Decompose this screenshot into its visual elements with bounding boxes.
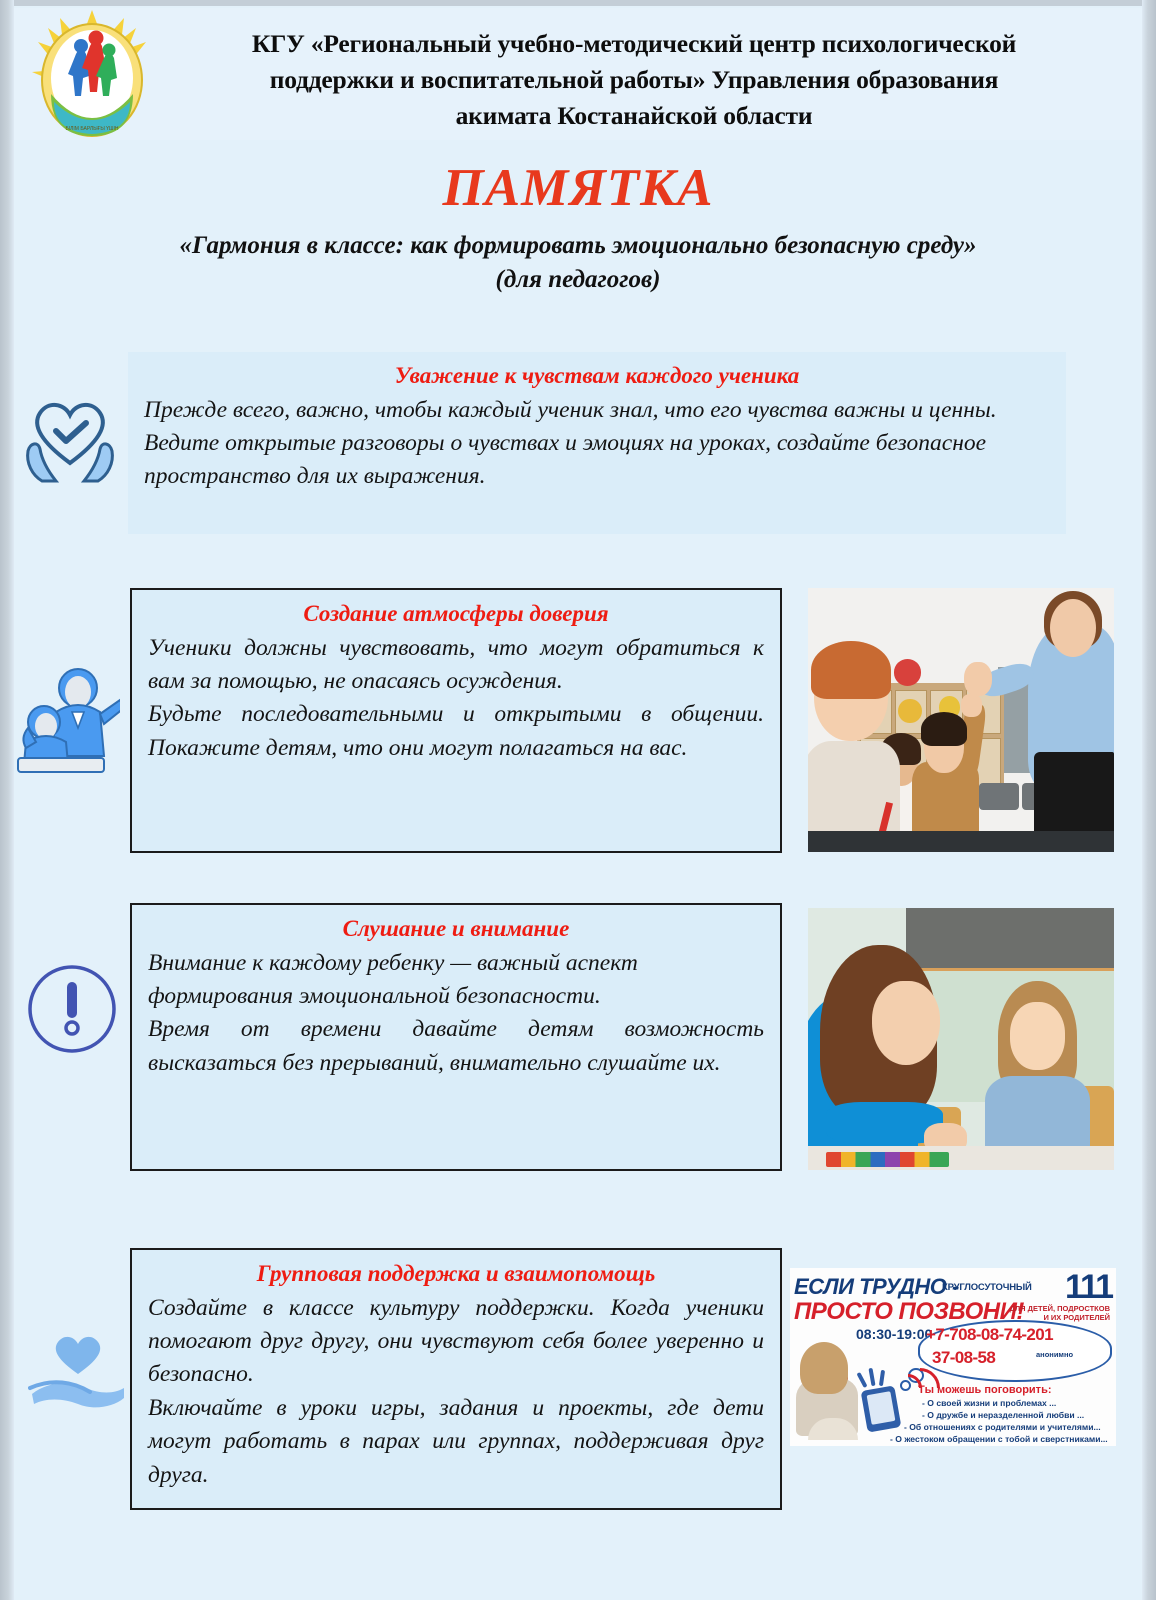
- section-2-paragraph-1: Ученики должны чувствовать, что могут об…: [148, 632, 764, 699]
- poster-short-number: 111: [1065, 1268, 1112, 1307]
- organization-name: КГУ «Региональный учебно-методический це…: [154, 26, 1114, 135]
- heart-in-hands-check-icon: [22, 385, 118, 485]
- section-2-heading: Создание атмосферы доверия: [148, 600, 764, 629]
- poster-topic-2: - О дружбе и неразделенной любви ...: [922, 1410, 1084, 1420]
- poster-phone-primary: +7-708-08-74-201: [926, 1325, 1053, 1345]
- section-3-paragraph-1: Внимание к каждому ребенку — важный аспе…: [148, 947, 764, 1014]
- helpline-poster: ЕСЛИ ТРУДНО - ПРОСТО ПОЗВОНИ! КРУГЛОСУТО…: [790, 1268, 1116, 1446]
- section-4: Групповая поддержка и взаимопомощь Созда…: [130, 1248, 782, 1510]
- poster-topic-4: - О жестоком обращении с тобой и сверстн…: [890, 1434, 1108, 1444]
- poster-round-the-clock: КРУГЛОСУТОЧНЫЙ: [942, 1282, 1032, 1293]
- section-3-paragraph-2: Время от времени давайте детям возможнос…: [148, 1013, 764, 1080]
- students-raising-hand-icon: [16, 662, 120, 774]
- teacher-talking-with-girl-photo: [808, 908, 1114, 1170]
- poster-line-1: ЕСЛИ ТРУДНО -: [794, 1274, 959, 1300]
- section-3-heading: Слушание и внимание: [148, 915, 764, 944]
- poster-audience-line-2: И ИХ РОДИТЕЛЕЙ: [1043, 1313, 1110, 1322]
- memo-page: БІЛІМ БАРЛЫҒЫ ҮШІН КГУ «Региональный уче…: [0, 0, 1156, 1600]
- poster-topic-1: - О своей жизни и проблемах ...: [922, 1398, 1056, 1408]
- classroom-teacher-high-five-photo: [808, 588, 1114, 852]
- page-edge-top: [0, 0, 1156, 6]
- page-audience: (для педагогов): [78, 266, 1078, 294]
- poster-anonymous-label: анонимно: [1036, 1350, 1073, 1359]
- poster-child-hair: [800, 1342, 848, 1394]
- heart-over-hand-icon: [28, 1322, 128, 1414]
- poster-audience-line-1: ДЛЯ ДЕТЕЙ, ПОДРОСТКОВ: [1010, 1304, 1110, 1313]
- section-1-paragraph-1: Прежде всего, важно, чтобы каждый ученик…: [144, 394, 1050, 427]
- section-1-paragraph-2: Ведите открытые разговоры о чувствах и э…: [144, 427, 1050, 494]
- poster-phone-secondary: 37-08-58: [932, 1348, 995, 1368]
- org-line-3: акимата Костанайской области: [154, 98, 1114, 134]
- page-edge-right: [1142, 0, 1156, 1600]
- exclamation-circle-icon: [26, 962, 118, 1056]
- page-edge-left: [0, 0, 14, 1600]
- section-4-paragraph-1: Создайте в классе культуру поддержки. Ко…: [148, 1292, 764, 1392]
- section-2-paragraph-2: Будьте последовательными и открытыми в о…: [148, 698, 764, 765]
- section-1-heading: Уважение к чувствам каждого ученика: [144, 362, 1050, 391]
- org-line-1: КГУ «Региональный учебно-методический це…: [154, 26, 1114, 62]
- section-4-paragraph-2: Включайте в уроки игры, задания и проект…: [148, 1392, 764, 1492]
- poster-topic-3: - Об отношениях с родителями и учителями…: [904, 1422, 1101, 1432]
- document-header: БІЛІМ БАРЛЫҒЫ ҮШІН КГУ «Региональный уче…: [14, 8, 1142, 140]
- org-line-2: поддержки и воспитательной работы» Управ…: [154, 62, 1114, 98]
- section-2: Создание атмосферы доверия Ученики должн…: [130, 588, 782, 853]
- section-3: Слушание и внимание Внимание к каждому р…: [130, 903, 782, 1171]
- svg-text:БІЛІМ БАРЛЫҒЫ ҮШІН: БІЛІМ БАРЛЫҒЫ ҮШІН: [65, 126, 118, 132]
- page-subtitle: «Гармония в классе: как формировать эмоц…: [78, 228, 1078, 264]
- section-1: Уважение к чувствам каждого ученика Преж…: [128, 352, 1066, 534]
- section-4-heading: Групповая поддержка и взаимопомощь: [148, 1260, 764, 1289]
- sun-people-emblem-icon: БІЛІМ БАРЛЫҒЫ ҮШІН: [30, 10, 154, 138]
- page-title: ПАМЯТКА: [0, 158, 1156, 218]
- poster-phone-screen: [867, 1391, 896, 1425]
